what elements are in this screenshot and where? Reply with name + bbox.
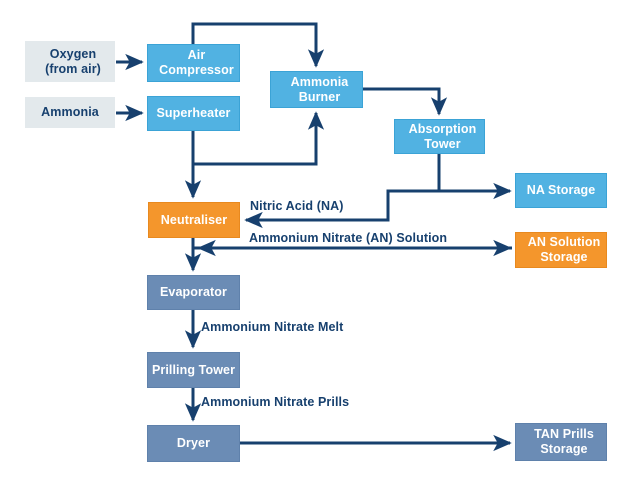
node-na-storage-label: NA Storage <box>516 183 606 198</box>
node-absorption-tower-line1: Absorption <box>398 122 487 137</box>
node-an-solution-storage-line1: AN Solution <box>519 235 609 250</box>
node-dryer-label: Dryer <box>148 436 239 451</box>
node-tan-prills-storage-line1: TAN Prills <box>519 427 609 442</box>
node-na-storage: NA Storage <box>515 173 607 208</box>
edge-label-an-solution: Ammonium Nitrate (AN) Solution <box>249 231 447 245</box>
node-evaporator: Evaporator <box>147 275 240 310</box>
node-neutraliser: Neutraliser <box>148 202 240 238</box>
process-flow-diagram: Oxygen (from air) Ammonia Air Compressor… <box>0 0 635 487</box>
node-ammonia-burner: Ammonia Burner <box>270 71 363 108</box>
node-tan-prills-storage-line2: Storage <box>519 442 609 457</box>
node-absorption-tower-line2: Tower <box>398 137 487 152</box>
node-superheater-label: Superheater <box>148 106 239 121</box>
node-ammonia: Ammonia <box>25 97 115 128</box>
edge-label-an-prills: Ammonium Nitrate Prills <box>201 395 349 409</box>
node-air-compressor-line1: Air <box>151 48 242 63</box>
node-air-compressor: Air Compressor <box>147 44 240 82</box>
node-superheater: Superheater <box>147 96 240 131</box>
node-prilling-tower-label: Prilling Tower <box>148 363 239 378</box>
node-air-compressor-line2: Compressor <box>151 63 242 78</box>
node-oxygen: Oxygen (from air) <box>25 41 115 82</box>
edge-label-an-melt: Ammonium Nitrate Melt <box>201 320 343 334</box>
node-neutraliser-label: Neutraliser <box>149 213 239 228</box>
node-prilling-tower: Prilling Tower <box>147 352 240 388</box>
node-an-solution-storage-line2: Storage <box>519 250 609 265</box>
flow-ammonia-burner-to-absorption-tower <box>363 89 439 114</box>
flow-absorption-tower-to-na-storage <box>439 154 510 191</box>
node-ammonia-burner-line1: Ammonia <box>274 75 365 90</box>
node-oxygen-line1: Oxygen <box>28 47 118 62</box>
node-oxygen-line2: (from air) <box>28 62 118 77</box>
node-absorption-tower: Absorption Tower <box>394 119 485 154</box>
node-tan-prills-storage: TAN Prills Storage <box>515 423 607 461</box>
node-ammonia-label: Ammonia <box>25 105 115 120</box>
node-dryer: Dryer <box>147 425 240 462</box>
edge-label-nitric-acid: Nitric Acid (NA) <box>250 199 344 213</box>
node-evaporator-label: Evaporator <box>148 285 239 300</box>
node-ammonia-burner-line2: Burner <box>274 90 365 105</box>
node-an-solution-storage: AN Solution Storage <box>515 232 607 268</box>
